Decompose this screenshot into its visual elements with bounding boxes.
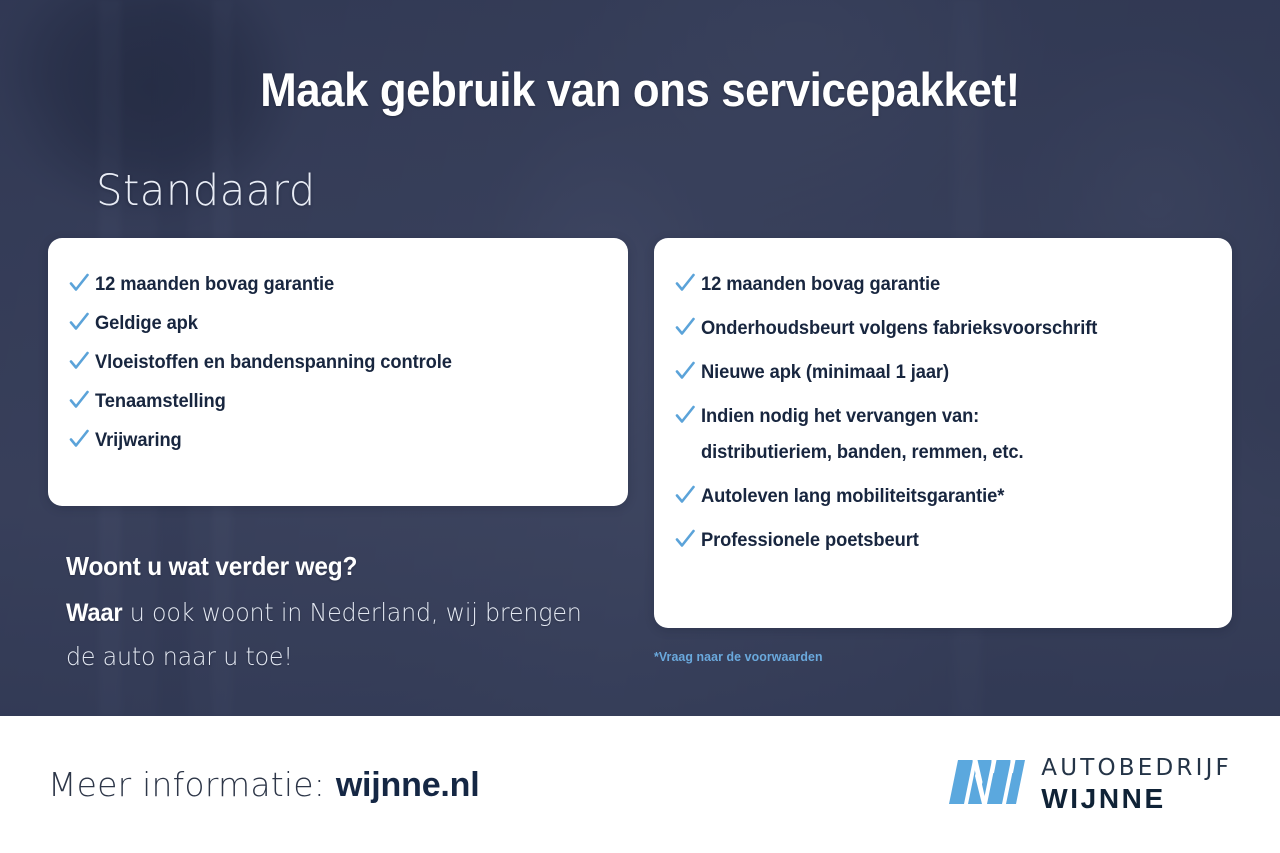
list-item: Geldige apk <box>48 310 628 336</box>
column-title-standaard: Standaard <box>96 166 316 216</box>
list-item: Indien nodig het vervangen van: distribu… <box>654 403 1232 465</box>
check-icon <box>68 389 90 411</box>
list-item: Vloeistoffen en bandenspanning controle <box>48 349 628 375</box>
poster: Maak gebruik van ons servicepakket! Stan… <box>0 0 1280 853</box>
feature-list-standaard: 12 maanden bovag garantie Geldige apk Vl… <box>48 271 628 453</box>
company-logo: AUTOBEDRIJF WIJNNE <box>949 757 1232 813</box>
delivery-promo: Woont u wat verder weg? Waar u ook woont… <box>66 551 626 679</box>
check-icon <box>674 484 696 506</box>
promo-body-text: u ook woont in Nederland, wij brengen de… <box>66 598 582 671</box>
feature-label-line1: Indien nodig het vervangen van: <box>701 405 979 427</box>
feature-label: 12 maanden bovag garantie <box>95 271 334 297</box>
feature-label-continuation: distributieriem, banden, remmen, etc. <box>701 439 1023 465</box>
website-link[interactable]: wijnne.nl <box>336 766 480 804</box>
features-card-standaard: 12 maanden bovag garantie Geldige apk Vl… <box>48 238 628 506</box>
list-item: Professionele poetsbeurt <box>654 527 1232 553</box>
check-icon <box>674 404 696 426</box>
feature-label: Vrijwaring <box>95 427 182 453</box>
feature-label: Geldige apk <box>95 310 198 336</box>
features-card-servicepakket: 12 maanden bovag garantie Onderhoudsbeur… <box>654 238 1232 628</box>
list-item: 12 maanden bovag garantie <box>654 271 1232 297</box>
check-icon <box>68 350 90 372</box>
feature-label: 12 maanden bovag garantie <box>701 271 940 297</box>
check-icon <box>674 360 696 382</box>
feature-label: Nieuwe apk (minimaal 1 jaar) <box>701 359 949 385</box>
logo-line-autobedrijf: AUTOBEDRIJF <box>1041 757 1232 780</box>
feature-label: Vloeistoffen en bandenspanning controle <box>95 349 452 375</box>
feature-label: Onderhoudsbeurt volgens fabrieksvoorschr… <box>701 315 1097 341</box>
more-info-text: Meer informatie: wijnne.nl <box>48 765 479 805</box>
logo-wordmark: AUTOBEDRIJF WIJNNE <box>1041 757 1232 813</box>
list-item: Autoleven lang mobiliteitsgarantie* <box>654 483 1232 509</box>
check-icon <box>674 272 696 294</box>
footer-bar: Meer informatie: wijnne.nl <box>0 716 1280 853</box>
list-item: Onderhoudsbeurt volgens fabrieksvoorschr… <box>654 315 1232 341</box>
feature-label: Tenaamstelling <box>95 388 226 414</box>
list-item: 12 maanden bovag garantie <box>48 271 628 297</box>
feature-list-servicepakket: 12 maanden bovag garantie Onderhoudsbeur… <box>654 271 1232 553</box>
list-item: Vrijwaring <box>48 427 628 453</box>
promo-body: Waar u ook woont in Nederland, wij breng… <box>66 591 598 679</box>
list-item: Nieuwe apk (minimaal 1 jaar) <box>654 359 1232 385</box>
more-info-label: Meer informatie: <box>48 765 336 804</box>
wijnne-w-mark-icon <box>949 760 1025 809</box>
promo-heading: Woont u wat verder weg? <box>66 551 592 582</box>
check-icon <box>68 428 90 450</box>
check-icon <box>674 316 696 338</box>
check-icon <box>68 272 90 294</box>
check-icon <box>68 311 90 333</box>
promo-lead-word: Waar <box>66 599 122 627</box>
conditions-footnote: *Vraag naar de voorwaarden <box>654 649 823 664</box>
check-icon <box>674 528 696 550</box>
page-title: Maak gebruik van ons servicepakket! <box>45 62 1235 117</box>
feature-label: Indien nodig het vervangen van: distribu… <box>701 403 1023 465</box>
list-item: Tenaamstelling <box>48 388 628 414</box>
feature-label: Autoleven lang mobiliteitsgarantie* <box>701 483 1004 509</box>
logo-line-wijnne: WIJNNE <box>1041 785 1232 813</box>
feature-label: Professionele poetsbeurt <box>701 527 919 553</box>
